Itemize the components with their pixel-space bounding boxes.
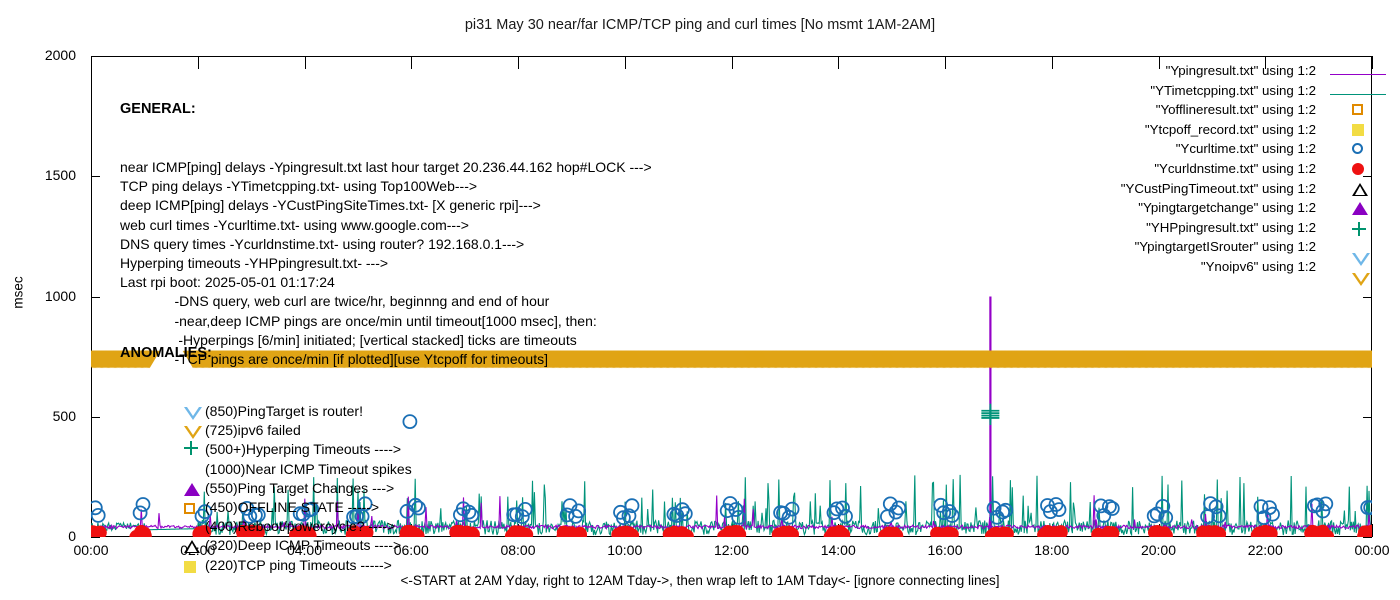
legend-entry[interactable]: "Ycurltime.txt" using 1:2 bbox=[1121, 139, 1316, 159]
x-tick-label: 00:00 bbox=[1337, 542, 1400, 558]
legend-entry[interactable]: "Ynoipv6" using 1:2 bbox=[1121, 257, 1316, 277]
general-line: deep ICMP[ping] delays -YCustPingSiteTim… bbox=[120, 196, 652, 215]
anomalies-annotation-block: ANOMALIES: (850)PingTarget is router!(72… bbox=[120, 306, 412, 594]
triangle-open-black-icon bbox=[184, 540, 200, 553]
legend-label: "Yofflineresult.txt" using 1:2 bbox=[1156, 102, 1316, 117]
legend-sample bbox=[1330, 218, 1386, 238]
anomaly-row: (550)Ping Target Changes ---> bbox=[120, 479, 412, 498]
x-tick-label: 10:00 bbox=[590, 542, 660, 558]
y-tick-label: 1500 bbox=[0, 167, 76, 183]
triangle-filled-purple-icon bbox=[1352, 202, 1368, 215]
legend-label: "Ytcpoff_record.txt" using 1:2 bbox=[1145, 122, 1316, 137]
legend-sample bbox=[1330, 120, 1386, 140]
legend-sample bbox=[1330, 61, 1386, 81]
anomaly-label: (450)OFFLINE STATE -----> bbox=[205, 499, 379, 515]
down-triangle-lightblue-icon bbox=[184, 407, 202, 420]
legend-sample bbox=[1330, 237, 1386, 257]
legend-entry[interactable]: "Ycurldnstime.txt" using 1:2 bbox=[1121, 159, 1316, 179]
general-line: web curl times -Ycurltime.txt- using www… bbox=[120, 216, 652, 235]
general-line: Hyperping timeouts -YHPpingresult.txt- -… bbox=[120, 254, 652, 273]
square-open-orange-icon bbox=[184, 503, 195, 514]
x-tick-label: 20:00 bbox=[1124, 542, 1194, 558]
legend-entry[interactable]: "Yofflineresult.txt" using 1:2 bbox=[1121, 100, 1316, 120]
down-triangle-orange-icon bbox=[1352, 273, 1370, 286]
anomaly-label: (400)Reboot/powercycle? ----> bbox=[205, 518, 395, 534]
anomaly-row: (850)PingTarget is router! bbox=[120, 402, 412, 421]
general-line: TCP ping delays -YTimetcpping.txt- using… bbox=[120, 177, 652, 196]
anomalies-header: ANOMALIES: bbox=[120, 344, 412, 363]
anomaly-label: (500+)Hyperping Timeouts ----> bbox=[205, 441, 401, 457]
y-tick-mark bbox=[91, 537, 100, 538]
series-YHPpingresult bbox=[981, 404, 999, 425]
circle-filled-red-icon bbox=[1352, 163, 1364, 175]
line-teal-icon bbox=[1330, 94, 1386, 95]
anomaly-row: (220)TCP ping Timeouts -----> bbox=[120, 556, 412, 575]
legend-label: "YCustPingTimeout.txt" using 1:2 bbox=[1121, 181, 1316, 196]
anomaly-label: (1000)Near ICMP Timeout spikes bbox=[205, 461, 412, 477]
legend-sample bbox=[1330, 81, 1386, 101]
square-open-orange-icon bbox=[184, 499, 202, 516]
anomaly-row: (320)Deep ICMP Timeouts ----> bbox=[120, 536, 412, 555]
anomaly-row: (450)OFFLINE STATE -----> bbox=[120, 498, 412, 517]
legend-entry[interactable]: "YCustPingTimeout.txt" using 1:2 bbox=[1121, 179, 1316, 199]
anomaly-row: (400)Reboot/powercycle? ----> bbox=[120, 517, 412, 536]
x-tick-label: 12:00 bbox=[697, 542, 767, 558]
triangle-open-black-icon bbox=[1352, 183, 1368, 196]
legend: "Ypingresult.txt" using 1:2"YTimetcpping… bbox=[1121, 61, 1316, 277]
x-tick-mark bbox=[1372, 524, 1373, 537]
legend-label: "Ypingresult.txt" using 1:2 bbox=[1166, 63, 1316, 78]
legend-sample bbox=[1330, 139, 1386, 159]
anomaly-label: (850)PingTarget is router! bbox=[205, 403, 363, 419]
legend-label: "YHPpingresult.txt" using 1:2 bbox=[1146, 220, 1316, 235]
general-line: Last rpi boot: 2025-05-01 01:17:24 bbox=[120, 273, 652, 292]
legend-entry[interactable]: "Ytcpoff_record.txt" using 1:2 bbox=[1121, 120, 1316, 140]
square-filled-yellow-icon bbox=[184, 561, 196, 573]
down-triangle-orange-icon bbox=[184, 426, 202, 439]
y-tick-label: 500 bbox=[0, 408, 76, 424]
legend-label: "Ycurldnstime.txt" using 1:2 bbox=[1154, 161, 1316, 176]
x-tick-label: 18:00 bbox=[1017, 542, 1087, 558]
general-line: DNS query times -Ycurldnstime.txt- using… bbox=[120, 235, 652, 254]
legend-label: "Ynoipv6" using 1:2 bbox=[1201, 259, 1316, 274]
anomaly-label: (725)ipv6 failed bbox=[205, 422, 301, 438]
legend-sample bbox=[1330, 198, 1386, 218]
x-tick-label: 00:00 bbox=[56, 542, 126, 558]
legend-label: "Ypingtargetchange" using 1:2 bbox=[1138, 200, 1316, 215]
down-triangle-lightblue-icon bbox=[184, 403, 202, 420]
legend-sample bbox=[1330, 257, 1386, 277]
legend-entry[interactable]: "YHPpingresult.txt" using 1:2 bbox=[1121, 218, 1316, 238]
triangle-open-black-icon bbox=[184, 537, 202, 554]
x-tick-label: 16:00 bbox=[910, 542, 980, 558]
legend-entry[interactable]: "YTimetcpping.txt" using 1:2 bbox=[1121, 81, 1316, 101]
plus-teal-icon bbox=[184, 441, 202, 458]
x-tick-label: 22:00 bbox=[1230, 542, 1300, 558]
anomaly-row: (1000)Near ICMP Timeout spikes bbox=[120, 460, 412, 479]
legend-label: "YTimetcpping.txt" using 1:2 bbox=[1150, 83, 1316, 98]
legend-sample bbox=[1330, 179, 1386, 199]
legend-label: "Ycurltime.txt" using 1:2 bbox=[1176, 141, 1316, 156]
x-tick-label: 08:00 bbox=[483, 542, 553, 558]
anomalies-list: (850)PingTarget is router!(725)ipv6 fail… bbox=[120, 402, 412, 575]
legend-entry[interactable]: "Ypingresult.txt" using 1:2 bbox=[1121, 61, 1316, 81]
legend-sample bbox=[1330, 159, 1386, 179]
y-tick-label: 2000 bbox=[0, 47, 76, 63]
plus-teal-icon bbox=[1352, 222, 1366, 236]
legend-entry[interactable]: "Ypingtargetchange" using 1:2 bbox=[1121, 198, 1316, 218]
triangle-filled-purple-icon bbox=[184, 480, 202, 497]
page-title: pi31 May 30 near/far ICMP/TCP ping and c… bbox=[0, 17, 1400, 33]
general-header: GENERAL: bbox=[120, 100, 652, 119]
y-tick-mark bbox=[1363, 537, 1372, 538]
anomaly-label: (320)Deep ICMP Timeouts ----> bbox=[205, 537, 401, 553]
square-open-orange-icon bbox=[1352, 104, 1363, 115]
anomaly-row: (725)ipv6 failed bbox=[120, 421, 412, 440]
legend-label: "YpingtargetISrouter" using 1:2 bbox=[1135, 239, 1316, 254]
anomaly-label: (550)Ping Target Changes ---> bbox=[205, 480, 394, 496]
anomaly-label: (220)TCP ping Timeouts -----> bbox=[205, 557, 392, 573]
anomaly-row: (500+)Hyperping Timeouts ----> bbox=[120, 440, 412, 459]
general-line: near ICMP[ping] delays -Ypingresult.txt … bbox=[120, 158, 652, 177]
square-filled-yellow-icon bbox=[1352, 124, 1364, 136]
circle-open-blue-icon bbox=[1352, 143, 1363, 154]
down-triangle-orange-icon bbox=[184, 422, 202, 439]
line-purple-icon bbox=[1330, 74, 1386, 75]
square-filled-yellow-icon bbox=[184, 557, 202, 574]
legend-entry[interactable]: "YpingtargetISrouter" using 1:2 bbox=[1121, 237, 1316, 257]
triangle-filled-purple-icon bbox=[184, 483, 200, 496]
plus-teal-icon bbox=[184, 441, 198, 455]
x-tick-label: 14:00 bbox=[803, 542, 873, 558]
legend-sample bbox=[1330, 100, 1386, 120]
y-tick-label: 1000 bbox=[0, 288, 76, 304]
